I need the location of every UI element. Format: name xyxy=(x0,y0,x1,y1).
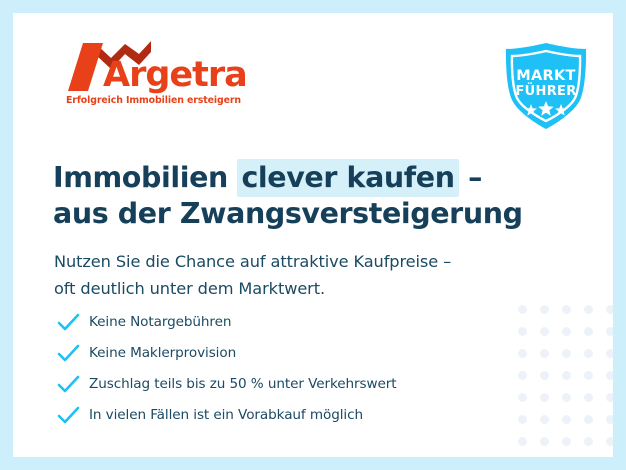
badge-line1: MARKT xyxy=(516,68,575,84)
dot-decoration xyxy=(584,349,593,358)
subheading: Nutzen Sie die Chance auf attraktive Kau… xyxy=(54,248,574,302)
dot-decoration xyxy=(562,349,571,358)
market-leader-badge: MARKT FÜHRER xyxy=(500,40,592,132)
dot-decoration xyxy=(540,371,549,380)
dot-decoration xyxy=(584,415,593,424)
dot-decoration xyxy=(540,349,549,358)
dot-decoration xyxy=(562,437,571,446)
dot-decoration xyxy=(562,393,571,402)
dot-decoration xyxy=(606,415,613,424)
dot-decoration xyxy=(584,327,593,336)
dot-decoration xyxy=(606,327,613,336)
dot-decoration xyxy=(540,437,549,446)
benefits-checklist: Keine NotargebührenKeine Maklerprovision… xyxy=(55,306,525,430)
check-icon xyxy=(55,374,82,394)
dot-decoration xyxy=(562,371,571,380)
shield-badge-icon: MARKT FÜHRER xyxy=(500,40,592,132)
list-item-label: Keine Maklerprovision xyxy=(82,345,236,361)
list-item: Keine Notargebühren xyxy=(55,306,525,337)
dot-decoration xyxy=(606,349,613,358)
logo-tagline: Erfolgreich Immobilien ersteigern xyxy=(66,95,241,106)
dot-decoration xyxy=(606,305,613,314)
dot-decoration xyxy=(584,393,593,402)
argetra-a-mark-icon: Argetra xyxy=(55,39,245,97)
check-icon xyxy=(55,405,82,425)
argetra-logo[interactable]: Argetra Erfolgreich Immobilien ersteiger… xyxy=(55,39,245,117)
subheading-line-2: oft deutlich unter dem Marktwert. xyxy=(54,275,574,302)
dot-decoration xyxy=(540,327,549,336)
list-item: Zuschlag teils bis zu 50 % unter Verkehr… xyxy=(55,368,525,399)
dot-decoration xyxy=(584,305,593,314)
dot-decoration xyxy=(584,371,593,380)
promo-banner: Argetra Erfolgreich Immobilien ersteiger… xyxy=(0,0,626,470)
banner-card: Argetra Erfolgreich Immobilien ersteiger… xyxy=(13,13,613,457)
dot-decoration xyxy=(606,371,613,380)
dot-grid-decoration xyxy=(518,305,613,457)
headline-line-2: aus der Zwangsversteigerung xyxy=(53,196,573,232)
page-title: Immobilien clever kaufen – aus der Zwang… xyxy=(53,160,573,232)
dot-decoration xyxy=(562,327,571,336)
list-item: Keine Maklerprovision xyxy=(55,337,525,368)
headline-highlight: clever kaufen xyxy=(237,159,458,197)
list-item-label: Zuschlag teils bis zu 50 % unter Verkehr… xyxy=(82,376,397,392)
headline-line-1: Immobilien clever kaufen – xyxy=(53,160,573,196)
dot-decoration xyxy=(562,305,571,314)
dot-decoration xyxy=(606,437,613,446)
headline-part-before: Immobilien xyxy=(53,161,237,194)
dot-decoration xyxy=(540,305,549,314)
dot-decoration xyxy=(606,393,613,402)
list-item: In vielen Fällen ist ein Vorabkauf mögli… xyxy=(55,399,525,430)
list-item-label: Keine Notargebühren xyxy=(82,314,231,330)
list-item-label: In vielen Fällen ist ein Vorabkauf mögli… xyxy=(82,407,363,423)
dot-decoration xyxy=(562,415,571,424)
dot-decoration xyxy=(518,437,527,446)
badge-line2: FÜHRER xyxy=(515,83,576,99)
dot-decoration xyxy=(584,437,593,446)
dot-decoration xyxy=(540,415,549,424)
check-icon xyxy=(55,343,82,363)
svg-text:Argetra: Argetra xyxy=(103,55,245,95)
check-icon xyxy=(55,312,82,332)
dot-decoration xyxy=(540,393,549,402)
subheading-line-1: Nutzen Sie die Chance auf attraktive Kau… xyxy=(54,248,574,275)
headline-part-after: – xyxy=(459,161,482,194)
